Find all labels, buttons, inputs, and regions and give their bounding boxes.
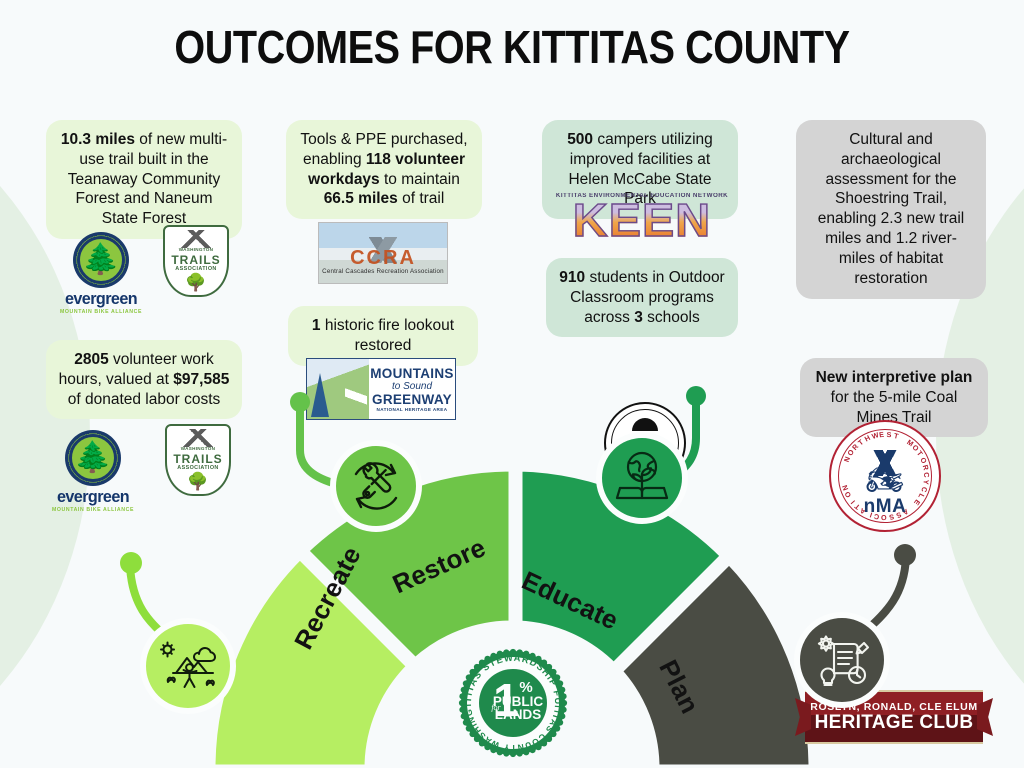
card-text-run-4: of trail [398, 190, 445, 207]
ccra-acronym: CCRA [319, 247, 447, 270]
card-text-run-0: 910 [559, 269, 585, 286]
fact-card-cultural-assessment: Cultural and archaeological assessment f… [796, 120, 986, 299]
infographic-canvas: OUTCOMES FOR KITTITAS COUNTY 10.3 miles … [0, 0, 1024, 768]
connector-knob-recreate [120, 552, 142, 574]
logo-washington-trails-association: WASHINGTON TRAILS ASSOCIATION 🌳 [160, 225, 232, 297]
seal-line-2: LANDS [495, 707, 542, 722]
one-percent-for-public-lands-seal: KITTITAS STEWARDSHIP FUND KITTITAS COUNT… [458, 648, 568, 758]
card-text-run-0: 500 [567, 131, 593, 148]
wta-line-3-b: ASSOCIATION [167, 465, 229, 471]
keen-acronym: KEEN [554, 199, 730, 241]
page-title: OUTCOMES FOR KITTITAS COUNTY [72, 20, 953, 74]
card-text-run-2: to maintain [380, 171, 460, 188]
wta-badge-icon-2: WASHINGTON TRAILS ASSOCIATION 🌳 [165, 424, 231, 496]
logo-northwest-motorcycle-association: NORTHWEST MOTORCYCLE ASSOCIATION 🏍 nMA [829, 420, 941, 532]
wta-line-3: ASSOCIATION [165, 266, 227, 272]
wheel-icon-bubble-restore[interactable] [330, 440, 422, 532]
card-text-run-3: 66.5 miles [324, 190, 398, 207]
wta-mountain-icon-2 [167, 429, 229, 447]
card-text-run-3: schools [643, 309, 700, 326]
msg-line-3: GREENWAY [372, 392, 452, 407]
tools-repair-icon [347, 457, 405, 515]
nma-arc-char: E [879, 430, 885, 440]
card-text-run-1: historic fire lookout restored [321, 317, 455, 354]
logo-central-cascades-recreation-association: CCRA Central Cascades Recreation Associa… [318, 222, 448, 284]
card-text-run-0: 10.3 miles [61, 131, 135, 148]
wta-badge-icon: WASHINGTON TRAILS ASSOCIATION 🌳 [163, 225, 229, 297]
card-text-run-3: of donated labor costs [68, 391, 221, 408]
globe-book-plant-icon [613, 450, 671, 506]
evergreen-tree-icon: 🌲 [73, 232, 129, 288]
card-text-run-0: Cultural and archaeological assessment f… [818, 131, 965, 287]
heritage-line-2: HERITAGE CLUB [805, 713, 983, 733]
evergreen-wordmark-2: evergreen [52, 487, 134, 507]
fact-card-tools-ppe: Tools & PPE purchased, enabling 118 volu… [286, 120, 482, 219]
evergreen-mark-icon-2: 🌲 [65, 430, 121, 486]
logo-evergreen-mountain-bike-alliance: 🌲 evergreen MOUNTAIN BIKE ALLIANCE [58, 232, 144, 315]
msg-line-1: MOUNTAINS [370, 366, 453, 381]
wta-line-2: TRAILS [165, 253, 227, 267]
fact-card-trail-miles: 10.3 miles of new multi-use trail built … [46, 120, 242, 239]
evergreen-tree-icon-2: 🌲 [65, 430, 121, 486]
hiker-icon [159, 640, 217, 692]
nma-arc-char: S [886, 430, 891, 439]
planning-gear-icon [812, 632, 872, 688]
evergreen-mark-icon: 🌲 [73, 232, 129, 288]
logo-keen: KITTITAS ENVIRONMENTAL EDUCATION NETWORK… [558, 193, 726, 241]
wta-line-1-b: WASHINGTON [167, 446, 229, 451]
fact-card-volunteer-hours: 2805 volunteer work hours, valued at $97… [46, 340, 242, 419]
msg-landscape-icon [307, 359, 369, 419]
wta-tree-icon-2: 🌳 [167, 473, 229, 490]
card-text-run-2: $97,585 [173, 371, 229, 388]
card-text-run-0: 2805 [74, 351, 108, 368]
nma-motorcycle-icon: 🏍 [831, 466, 939, 496]
wheel-icon-bubble-educate[interactable] [596, 432, 688, 524]
logo-washington-trails-association-2: WASHINGTON TRAILS ASSOCIATION 🌳 [162, 424, 234, 496]
nma-arc-char: T [893, 431, 900, 441]
msg-line-4: NATIONAL HERITAGE AREA [377, 407, 448, 412]
fact-card-students: 910 students in Outdoor Classroom progra… [546, 258, 738, 337]
evergreen-wordmark: evergreen [60, 289, 142, 309]
wta-line-2-b: TRAILS [167, 452, 229, 466]
connector-knob-plan [894, 544, 916, 566]
card-text-run-0: 1 [312, 317, 321, 334]
logo-evergreen-mountain-bike-alliance-2: 🌲 evergreen MOUNTAIN BIKE ALLIANCE [50, 430, 136, 513]
evergreen-tagline: MOUNTAIN BIKE ALLIANCE [58, 309, 144, 315]
fact-card-fire-lookout: 1 historic fire lookout restored [288, 306, 478, 366]
logo-mountains-to-sound-greenway: MOUNTAINS to Sound GREENWAY NATIONAL HER… [306, 358, 456, 420]
card-text-run-0: New interpretive plan [816, 369, 973, 386]
evergreen-tagline-2: MOUNTAIN BIKE ALLIANCE [50, 507, 136, 513]
connector-knob-educate [686, 386, 706, 406]
ccra-full-name: Central Cascades Recreation Association [319, 268, 447, 275]
wta-mountain-icon [165, 230, 227, 248]
card-text-run-2: 3 [634, 309, 643, 326]
wta-tree-icon: 🌳 [165, 274, 227, 291]
wta-line-1: WASHINGTON [165, 247, 227, 252]
wheel-icon-bubble-recreate[interactable] [140, 618, 236, 714]
nma-acronym: nMA [831, 496, 939, 518]
msg-text-block: MOUNTAINS to Sound GREENWAY NATIONAL HER… [369, 359, 455, 419]
connector-knob-restore [290, 392, 310, 412]
wheel-icon-bubble-plan[interactable] [794, 612, 890, 708]
msg-line-2: to Sound [392, 381, 432, 392]
